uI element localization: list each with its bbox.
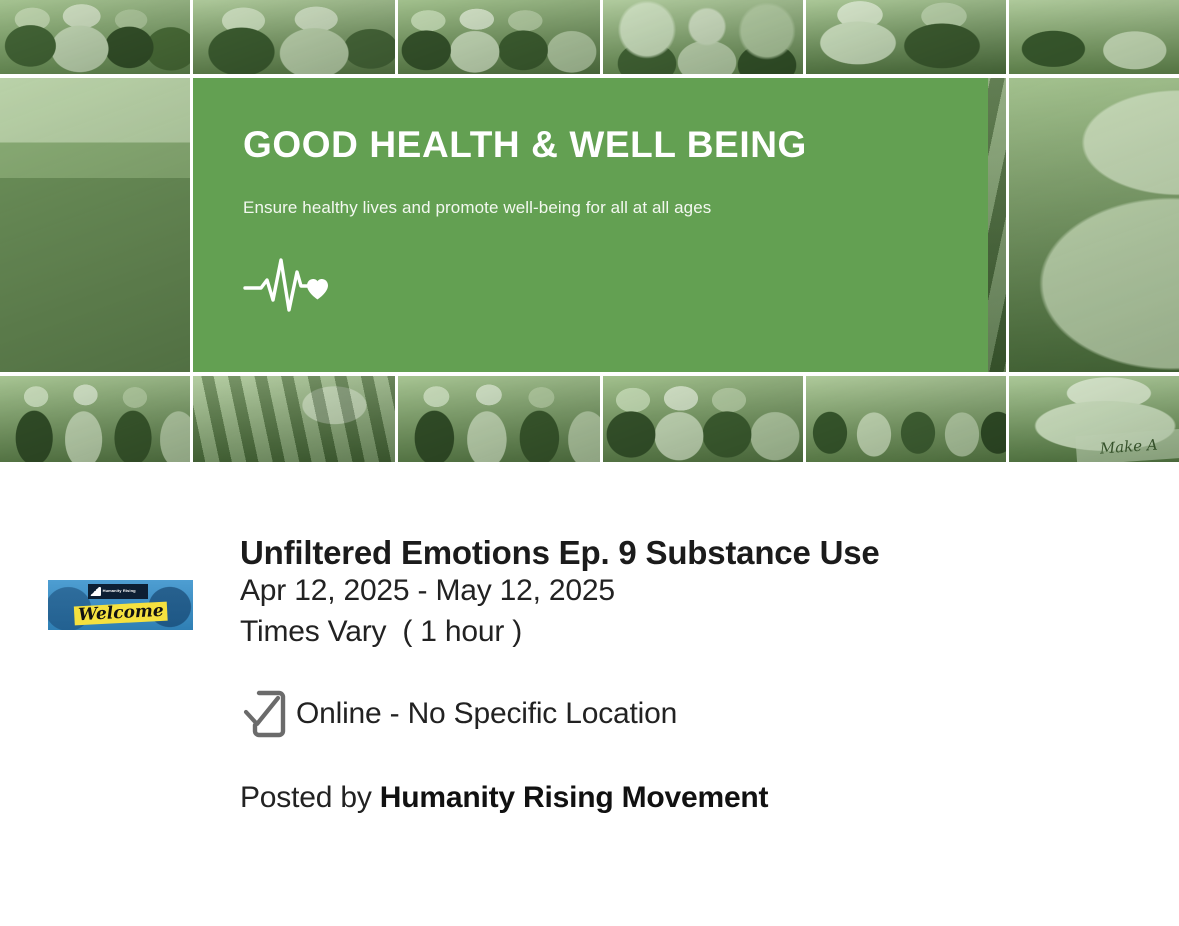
hero-collage: Make A GOOD HEALTH & WELL BEING Ensure h… <box>0 0 1179 462</box>
event-times: Times Vary( 1 hour ) <box>240 613 1179 651</box>
collage-photo <box>398 376 600 462</box>
collage-photo-runners <box>0 78 190 372</box>
event-posted-row: Posted by Humanity Rising Movement <box>240 781 1179 815</box>
event-dates: Apr 12, 2025 - May 12, 2025 <box>240 572 1179 610</box>
sdg-goal-panel: GOOD HEALTH & WELL BEING Ensure healthy … <box>193 78 988 372</box>
event-duration: ( 1 hour ) <box>402 615 522 648</box>
posted-by-label: Posted by <box>240 781 372 814</box>
collage-photo <box>193 376 395 462</box>
collage-photo <box>0 376 190 462</box>
event-title[interactable]: Unfiltered Emotions Ep. 9 Substance Use <box>240 534 1179 572</box>
event-thumbnail[interactable]: Humanity Rising Welcome <box>48 580 193 630</box>
collage-photo <box>0 0 190 74</box>
sdg-title: GOOD HEALTH & WELL BEING <box>243 126 988 163</box>
event-thumbnail-cell: Humanity Rising Welcome <box>0 534 240 630</box>
logo-text: Humanity Rising <box>103 589 136 593</box>
collage-photo <box>603 0 803 74</box>
event-location-row: Online - No Specific Location <box>240 687 1179 741</box>
protest-sign-text: Make A <box>1099 435 1158 457</box>
event-detail-page: Make A GOOD HEALTH & WELL BEING Ensure h… <box>0 0 1179 926</box>
sdg-subtitle: Ensure healthy lives and promote well-be… <box>243 198 988 218</box>
event-times-label: Times Vary <box>240 615 386 648</box>
thumbnail-welcome-text: Welcome <box>73 602 167 626</box>
heartbeat-pulse-icon <box>243 252 335 314</box>
collage-photo-donor <box>1009 78 1179 372</box>
event-detail-section: Humanity Rising Welcome Unfiltered Emoti… <box>0 462 1179 815</box>
mobile-check-icon <box>240 687 296 741</box>
collage-photo <box>398 0 600 74</box>
collage-photo <box>193 0 395 74</box>
collage-photo <box>1009 0 1179 74</box>
logo-mark-icon <box>90 587 101 596</box>
collage-photo <box>603 376 803 462</box>
event-location: Online - No Specific Location <box>296 699 677 729</box>
collage-photo <box>806 376 1006 462</box>
protest-sign: Make A <box>1075 419 1179 462</box>
posted-by-organization[interactable]: Humanity Rising Movement <box>380 781 769 814</box>
collage-photo-sign: Make A <box>1009 376 1179 462</box>
humanity-rising-logo-icon: Humanity Rising <box>88 584 148 599</box>
collage-photo <box>806 0 1006 74</box>
event-row: Humanity Rising Welcome Unfiltered Emoti… <box>0 534 1179 815</box>
event-info: Unfiltered Emotions Ep. 9 Substance Use … <box>240 534 1179 815</box>
